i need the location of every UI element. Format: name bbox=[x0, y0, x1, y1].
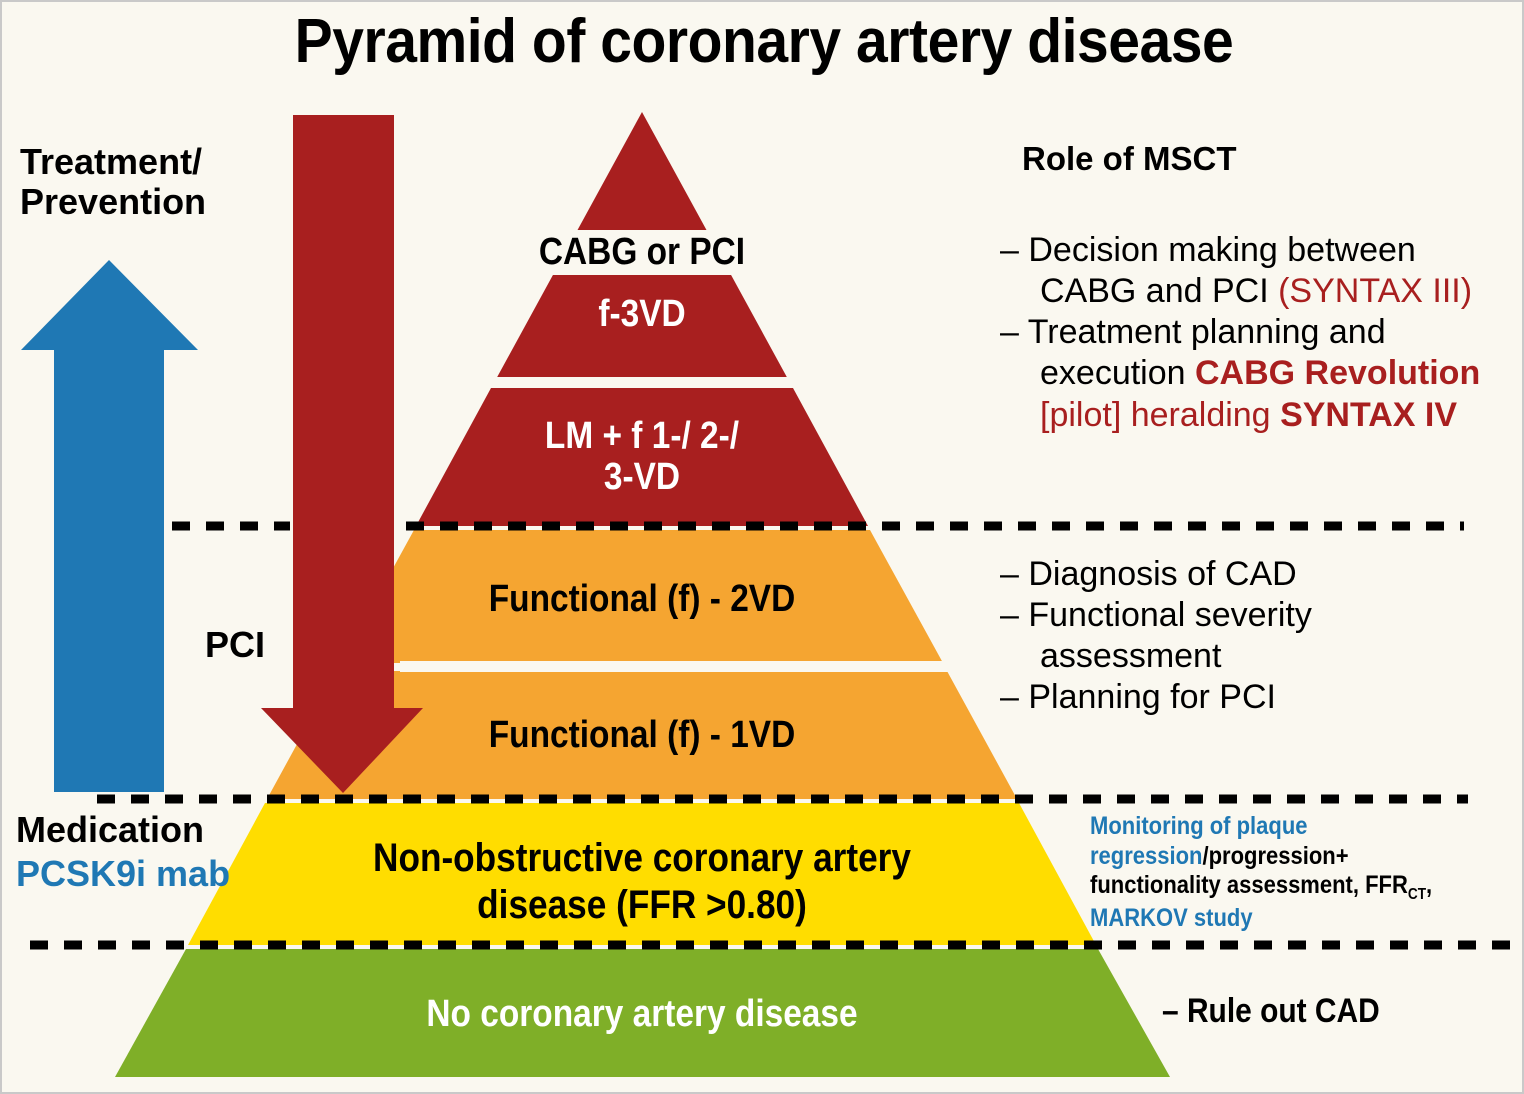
monitoring-black-3: , bbox=[1426, 871, 1432, 899]
diagram-canvas: Pyramid of coronary artery disease T bbox=[0, 0, 1524, 1094]
role-mid-bullet-3-text: Planning for PCI bbox=[1028, 678, 1276, 716]
rule-out-cad-note: – Rule out CAD bbox=[1162, 992, 1461, 1031]
monitoring-line-1: Monitoring of plaque bbox=[1090, 812, 1468, 842]
role-mid-bullet-1-text: Diagnosis of CAD bbox=[1028, 555, 1296, 593]
monitoring-line-4: MARKOV study bbox=[1090, 904, 1468, 934]
role-mid-bullet-2-line-2: assessment bbox=[1000, 636, 1520, 677]
role-of-msct-heading: Role of MSCT bbox=[1022, 140, 1502, 178]
msct-monitoring-note: Monitoring of plaque regression/progress… bbox=[1090, 812, 1468, 934]
bullet-dash-4: – bbox=[1000, 596, 1019, 634]
pilot-heralding-text: [pilot] heralding bbox=[1040, 396, 1271, 434]
tier-label-no-cad: No coronary artery disease bbox=[281, 994, 1003, 1035]
role-bullet-2-line-1: – Treatment planning and bbox=[1000, 312, 1520, 353]
role-bullet-2-text-2: execution bbox=[1040, 354, 1186, 392]
monitoring-blue-2: regression bbox=[1090, 842, 1203, 870]
syntax-iii-tag: (SYNTAX III) bbox=[1278, 272, 1472, 310]
role-bullet-2-line-3: [pilot] heralding SYNTAX IV bbox=[1000, 395, 1520, 436]
tier-label-cabg-or-pci: CABG or PCI bbox=[457, 230, 827, 275]
pci-axis-label: PCI bbox=[205, 624, 265, 666]
tier-label-lm-line1: LM + f 1-/ 2-/ bbox=[431, 416, 853, 457]
bullet-dash-5: – bbox=[1000, 678, 1019, 716]
role-bullet-1-text-2: CABG and PCI bbox=[1040, 272, 1269, 310]
markov-study-tag: MARKOV study bbox=[1090, 904, 1253, 932]
monitoring-blue-1: Monitoring of plaque bbox=[1090, 812, 1308, 840]
medication-label: Medication bbox=[16, 810, 276, 850]
tier-label-non-obstructive: Non-obstructive coronary artery disease … bbox=[308, 835, 977, 929]
msct-roles-middle-list: – Diagnosis of CAD – Functional severity… bbox=[1000, 554, 1520, 719]
tier-label-functional-1vd: Functional (f) - 1VD bbox=[413, 715, 871, 756]
role-mid-bullet-2-line-1: – Functional severity bbox=[1000, 595, 1520, 636]
tier-label-functional-2vd: Functional (f) - 2VD bbox=[413, 579, 871, 620]
tier-label-lm-f-vd: LM + f 1-/ 2-/ 3-VD bbox=[431, 416, 853, 498]
msct-roles-upper-list: – Decision making between CABG and PCI (… bbox=[1000, 230, 1520, 436]
role-mid-bullet-1: – Diagnosis of CAD bbox=[1000, 554, 1520, 595]
role-bullet-1-line-1: – Decision making between bbox=[1000, 230, 1520, 271]
cabg-revolution-tag: CABG Revolution bbox=[1195, 354, 1480, 392]
treatment-prevention-line2: Prevention bbox=[20, 182, 280, 222]
monitoring-black-1: /progression+ bbox=[1203, 842, 1349, 870]
role-bullet-2-line-2: execution CABG Revolution bbox=[1000, 353, 1520, 394]
role-mid-bullet-3: – Planning for PCI bbox=[1000, 677, 1520, 718]
role-mid-bullet-2-text-2: assessment bbox=[1040, 637, 1221, 675]
treatment-prevention-label: Treatment/ Prevention bbox=[20, 142, 280, 223]
monitoring-line-3: functionality assessment, FFRCT, bbox=[1090, 871, 1468, 904]
role-bullet-2-text-1: Treatment planning and bbox=[1028, 313, 1386, 351]
bullet-dash-1: – bbox=[1000, 231, 1019, 269]
role-bullet-1-text-1: Decision making between bbox=[1028, 231, 1415, 269]
ffr-ct-subscript: CT bbox=[1408, 886, 1426, 903]
treatment-prevention-line1: Treatment/ bbox=[20, 142, 280, 182]
tier-label-non-obstructive-line1: Non-obstructive coronary artery bbox=[308, 835, 977, 882]
tier-label-non-obstructive-line2: disease (FFR >0.80) bbox=[308, 882, 977, 929]
bullet-dash-2: – bbox=[1000, 313, 1019, 351]
tier-label-lm-line2: 3-VD bbox=[431, 457, 853, 498]
role-bullet-1-line-2: CABG and PCI (SYNTAX III) bbox=[1000, 271, 1520, 312]
tier-label-f-3vd: f-3VD bbox=[466, 294, 818, 335]
tier-separator-2 bbox=[400, 661, 960, 672]
syntax-iv-tag: SYNTAX IV bbox=[1280, 396, 1457, 434]
monitoring-black-2: functionality assessment, FFR bbox=[1090, 871, 1408, 899]
medication-drug-label: PCSK9i mab bbox=[16, 854, 296, 894]
monitoring-line-2: regression/progression+ bbox=[1090, 842, 1468, 872]
bullet-dash-3: – bbox=[1000, 555, 1019, 593]
role-mid-bullet-2-text-1: Functional severity bbox=[1028, 596, 1311, 634]
tier-separator-1 bbox=[407, 377, 887, 388]
up-arrow-icon bbox=[21, 260, 198, 792]
